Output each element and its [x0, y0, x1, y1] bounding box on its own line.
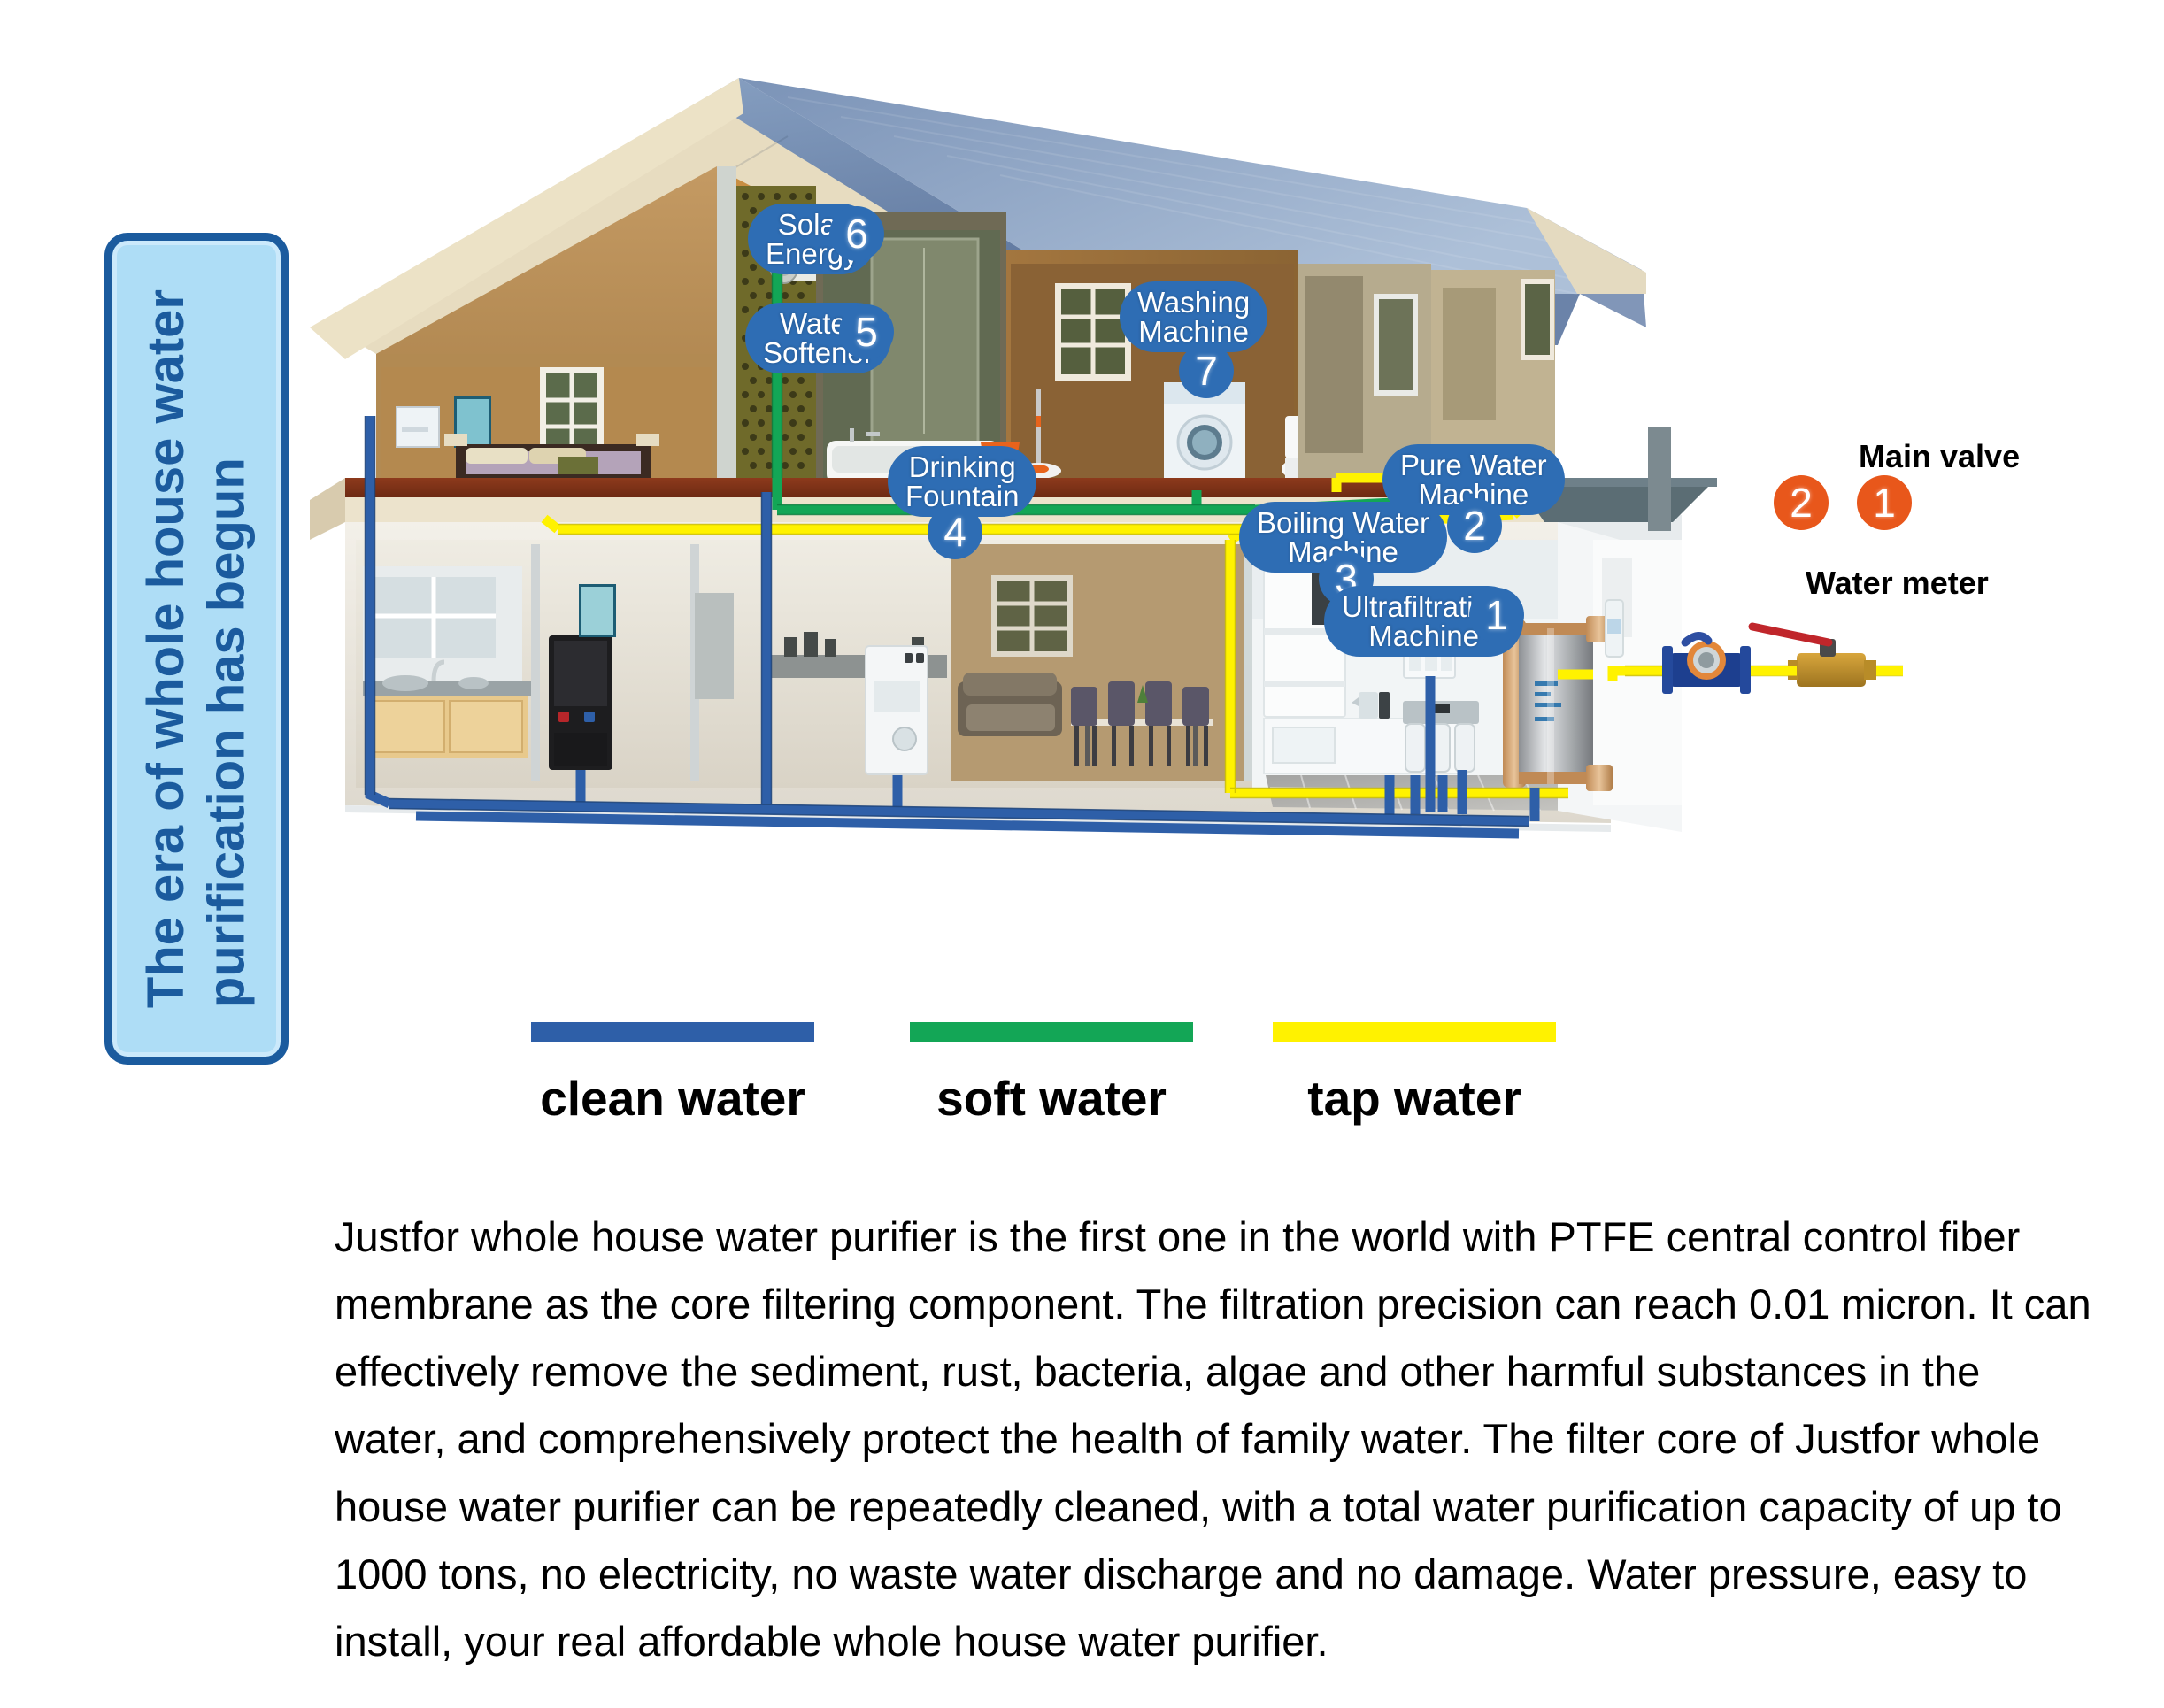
vertical-banner: The era of whole house water purificatio… [104, 233, 289, 1065]
house-cutaway-illustration: Solar Energy 6 Water Softener 5 Washing … [292, 62, 1903, 973]
product-description-paragraph: Justfor whole house water purifier is th… [335, 1204, 2091, 1675]
water-dispenser-black [549, 635, 612, 770]
vertical-banner-text: The era of whole house water purificatio… [136, 289, 258, 1008]
label-pure-water-machine-line1: Pure Water [1400, 449, 1547, 481]
pipe-color-legend: clean water soft water tap water [531, 1022, 1682, 1146]
label-ultrafiltration-machine-line2: Machine [1368, 619, 1479, 652]
kitchen-area [363, 566, 531, 758]
label-main-valve: Main valve [1859, 438, 2020, 475]
legend-label-clean-water: clean water [531, 1070, 814, 1127]
sofa [958, 673, 1062, 736]
label-washing-machine-line1: Washing [1137, 286, 1250, 319]
legend-item-soft-water: soft water [910, 1022, 1193, 1127]
drinking-fountain-appliance [866, 646, 928, 774]
legend-item-clean-water: clean water [531, 1022, 814, 1127]
badge-pure-water-machine[interactable]: 2 [1447, 498, 1502, 553]
badge-solar-energy[interactable]: 6 [829, 206, 884, 261]
badge-drinking-fountain[interactable]: 4 [928, 504, 982, 559]
badge-ultrafiltration-machine[interactable]: 1 [1469, 588, 1524, 642]
badge-water-meter[interactable]: 2 [1774, 475, 1829, 530]
main-valve-assembly [1752, 627, 1876, 687]
badge-water-softener[interactable]: 5 [839, 304, 894, 359]
label-water-meter: Water meter [1806, 565, 1989, 602]
legend-label-tap-water: tap water [1273, 1070, 1556, 1127]
legend-swatch-clean-water [531, 1022, 814, 1042]
badge-washing-machine[interactable]: 7 [1179, 343, 1234, 398]
label-washing-machine-line2: Machine [1138, 315, 1249, 348]
legend-swatch-tap-water [1273, 1022, 1556, 1042]
infographic-canvas: The era of whole house water purificatio… [0, 0, 2164, 1708]
house-diagram-svg [292, 62, 1903, 973]
ultrafiltration-machine-appliance [1403, 701, 1479, 772]
legend-swatch-soft-water [910, 1022, 1193, 1042]
label-boiling-water-machine-line1: Boiling Water [1257, 506, 1429, 539]
legend-item-tap-water: tap water [1273, 1022, 1556, 1127]
label-drinking-fountain-line1: Drinking [909, 450, 1016, 483]
house-svg-container [292, 62, 1903, 973]
label-washing-machine[interactable]: Washing Machine [1120, 281, 1267, 352]
badge-main-valve[interactable]: 1 [1857, 475, 1912, 530]
legend-label-soft-water: soft water [910, 1070, 1193, 1127]
